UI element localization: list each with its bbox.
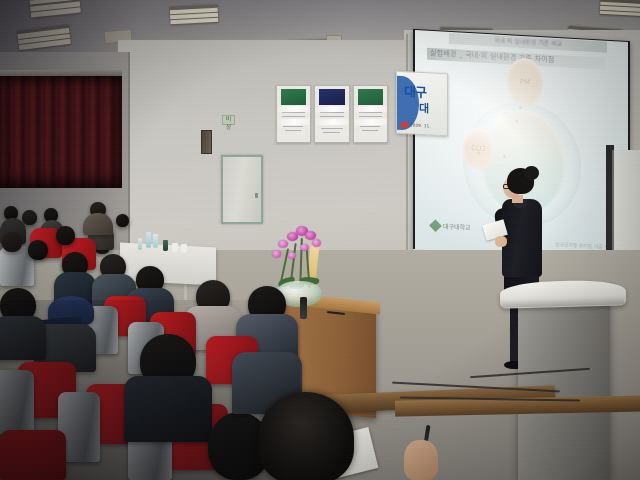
refreshment-table <box>120 242 216 285</box>
lecture-hall-photo: 비상 <box>0 0 640 480</box>
auditorium-seat-back <box>0 370 34 434</box>
audience-body <box>0 316 46 360</box>
beverage-can <box>163 240 168 251</box>
presenter-hand <box>495 236 507 247</box>
side-door[interactable] <box>221 155 263 224</box>
diamond-logo-icon <box>429 219 442 232</box>
water-bottle <box>146 232 151 248</box>
slide-accent-dot <box>519 106 522 109</box>
banner-line1: 대구 <box>404 81 426 101</box>
slide-bubble-pm-label: PM <box>520 78 530 87</box>
banner-line2: 대 <box>419 100 429 117</box>
slide-logo-text: 대구대학교 <box>443 222 471 233</box>
slide-accent-dot <box>503 155 506 158</box>
foreground-hand <box>404 440 438 480</box>
banner-date: 2009. 11. <box>410 122 431 128</box>
audience-head <box>56 226 75 245</box>
wall-poster-group <box>276 85 388 143</box>
orchid-bloom <box>272 250 281 258</box>
stage-curtain <box>0 76 122 188</box>
auditorium-seat <box>0 430 66 480</box>
paper-cup <box>181 244 187 253</box>
exit-sign-label: 비상 <box>223 116 234 132</box>
audience-head <box>2 232 22 252</box>
door-handle[interactable] <box>255 193 258 198</box>
orchid-bloom <box>312 239 321 247</box>
slide-accent-dot <box>515 120 518 123</box>
orchid-bloom <box>278 240 288 248</box>
water-bottle <box>153 234 158 248</box>
slide-bubble-co2: CO2 <box>463 127 494 171</box>
audience-body <box>124 376 212 442</box>
wall-speaker <box>201 130 212 154</box>
orchid-bloom <box>288 252 296 259</box>
presenter-hair-bun <box>524 166 539 180</box>
audience-head <box>116 214 129 227</box>
audience-body <box>83 213 113 235</box>
slide-university-logo: 대구대학교 <box>431 221 471 232</box>
event-banner: 대구 대 2009. 11. <box>396 71 448 137</box>
foreground-attendee-head <box>258 392 354 480</box>
podium-microphone <box>300 297 307 319</box>
water-bottle <box>138 238 142 250</box>
paper-cup <box>172 243 178 252</box>
slide-accent-dot <box>477 152 480 155</box>
audience-head <box>22 210 37 225</box>
framed-poster <box>314 85 349 143</box>
exit-sign: 비상 <box>222 115 235 125</box>
framed-poster <box>276 85 311 143</box>
framed-poster <box>353 85 388 143</box>
audience-head <box>28 240 48 260</box>
orchid-bloom <box>300 244 309 251</box>
banner-badge <box>401 122 408 128</box>
